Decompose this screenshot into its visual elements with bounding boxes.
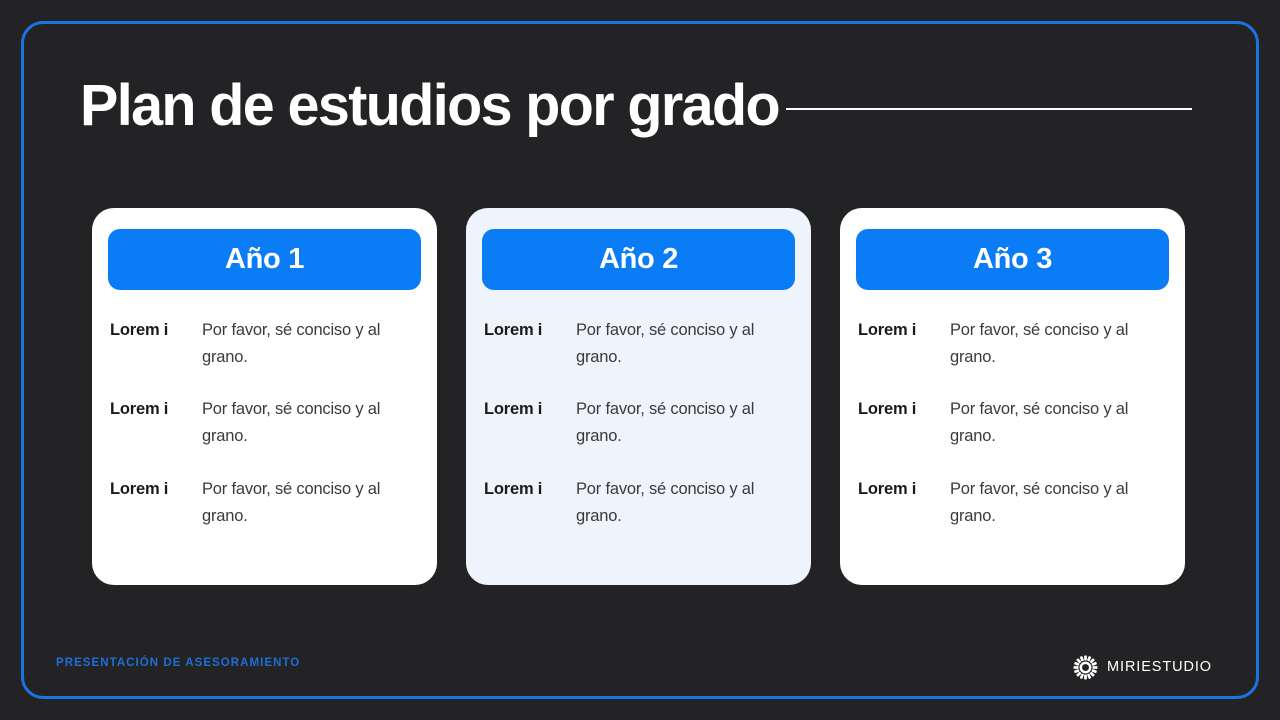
- list-item: Lorem i Por favor, sé conciso y al grano…: [484, 317, 793, 370]
- list-item: Lorem i Por favor, sé conciso y al grano…: [110, 317, 419, 370]
- list-item-term: Lorem i: [110, 396, 202, 423]
- list-item-description: Por favor, sé conciso y al grano.: [202, 317, 419, 370]
- page-title: Plan de estudios por grado: [80, 77, 779, 135]
- list-item: Lorem i Por favor, sé conciso y al grano…: [110, 396, 419, 449]
- brand-name: MIRIESTUDIO: [1107, 660, 1212, 675]
- year-card[interactable]: Año 1 Lorem i Por favor, sé conciso y al…: [92, 208, 437, 585]
- list-item-description: Por favor, sé conciso y al grano.: [950, 476, 1167, 529]
- list-item-description: Por favor, sé conciso y al grano.: [202, 396, 419, 449]
- year-card-title: Año 3: [973, 245, 1052, 274]
- list-item-term: Lorem i: [110, 317, 202, 344]
- list-item-description: Por favor, sé conciso y al grano.: [950, 396, 1167, 449]
- list-item-term: Lorem i: [858, 396, 950, 423]
- list-item-term: Lorem i: [484, 396, 576, 423]
- list-item-term: Lorem i: [484, 317, 576, 344]
- sunburst-icon: [1073, 655, 1098, 680]
- year-card[interactable]: Año 3 Lorem i Por favor, sé conciso y al…: [840, 208, 1185, 585]
- year-card-header[interactable]: Año 3: [856, 229, 1169, 290]
- list-item-term: Lorem i: [110, 476, 202, 503]
- year-card[interactable]: Año 2 Lorem i Por favor, sé conciso y al…: [466, 208, 811, 585]
- list-item-description: Por favor, sé conciso y al grano.: [576, 476, 793, 529]
- list-item-term: Lorem i: [858, 476, 950, 503]
- slide-header: Plan de estudios por grado: [80, 70, 1192, 142]
- year-card-body: Lorem i Por favor, sé conciso y al grano…: [856, 290, 1169, 585]
- list-item-description: Por favor, sé conciso y al grano.: [576, 317, 793, 370]
- year-card-body: Lorem i Por favor, sé conciso y al grano…: [108, 290, 421, 585]
- year-card-header[interactable]: Año 2: [482, 229, 795, 290]
- footer-caption: PRESENTACIÓN DE ASESORAMIENTO: [56, 658, 300, 670]
- list-item: Lorem i Por favor, sé conciso y al grano…: [484, 476, 793, 529]
- slide: Plan de estudios por grado Año 1 Lorem i…: [0, 0, 1280, 720]
- list-item: Lorem i Por favor, sé conciso y al grano…: [858, 476, 1167, 529]
- list-item: Lorem i Por favor, sé conciso y al grano…: [858, 396, 1167, 449]
- year-cards-group: Año 1 Lorem i Por favor, sé conciso y al…: [92, 208, 1185, 585]
- year-card-title: Año 1: [225, 245, 304, 274]
- list-item-term: Lorem i: [484, 476, 576, 503]
- year-card-body: Lorem i Por favor, sé conciso y al grano…: [482, 290, 795, 585]
- list-item-term: Lorem i: [858, 317, 950, 344]
- list-item: Lorem i Por favor, sé conciso y al grano…: [110, 476, 419, 529]
- year-card-header[interactable]: Año 1: [108, 229, 421, 290]
- list-item-description: Por favor, sé conciso y al grano.: [950, 317, 1167, 370]
- list-item: Lorem i Por favor, sé conciso y al grano…: [858, 317, 1167, 370]
- list-item-description: Por favor, sé conciso y al grano.: [202, 476, 419, 529]
- year-card-title: Año 2: [599, 245, 678, 274]
- list-item: Lorem i Por favor, sé conciso y al grano…: [484, 396, 793, 449]
- list-item-description: Por favor, sé conciso y al grano.: [576, 396, 793, 449]
- brand-lockup: MIRIESTUDIO: [1073, 655, 1212, 680]
- title-rule-divider: [786, 108, 1192, 110]
